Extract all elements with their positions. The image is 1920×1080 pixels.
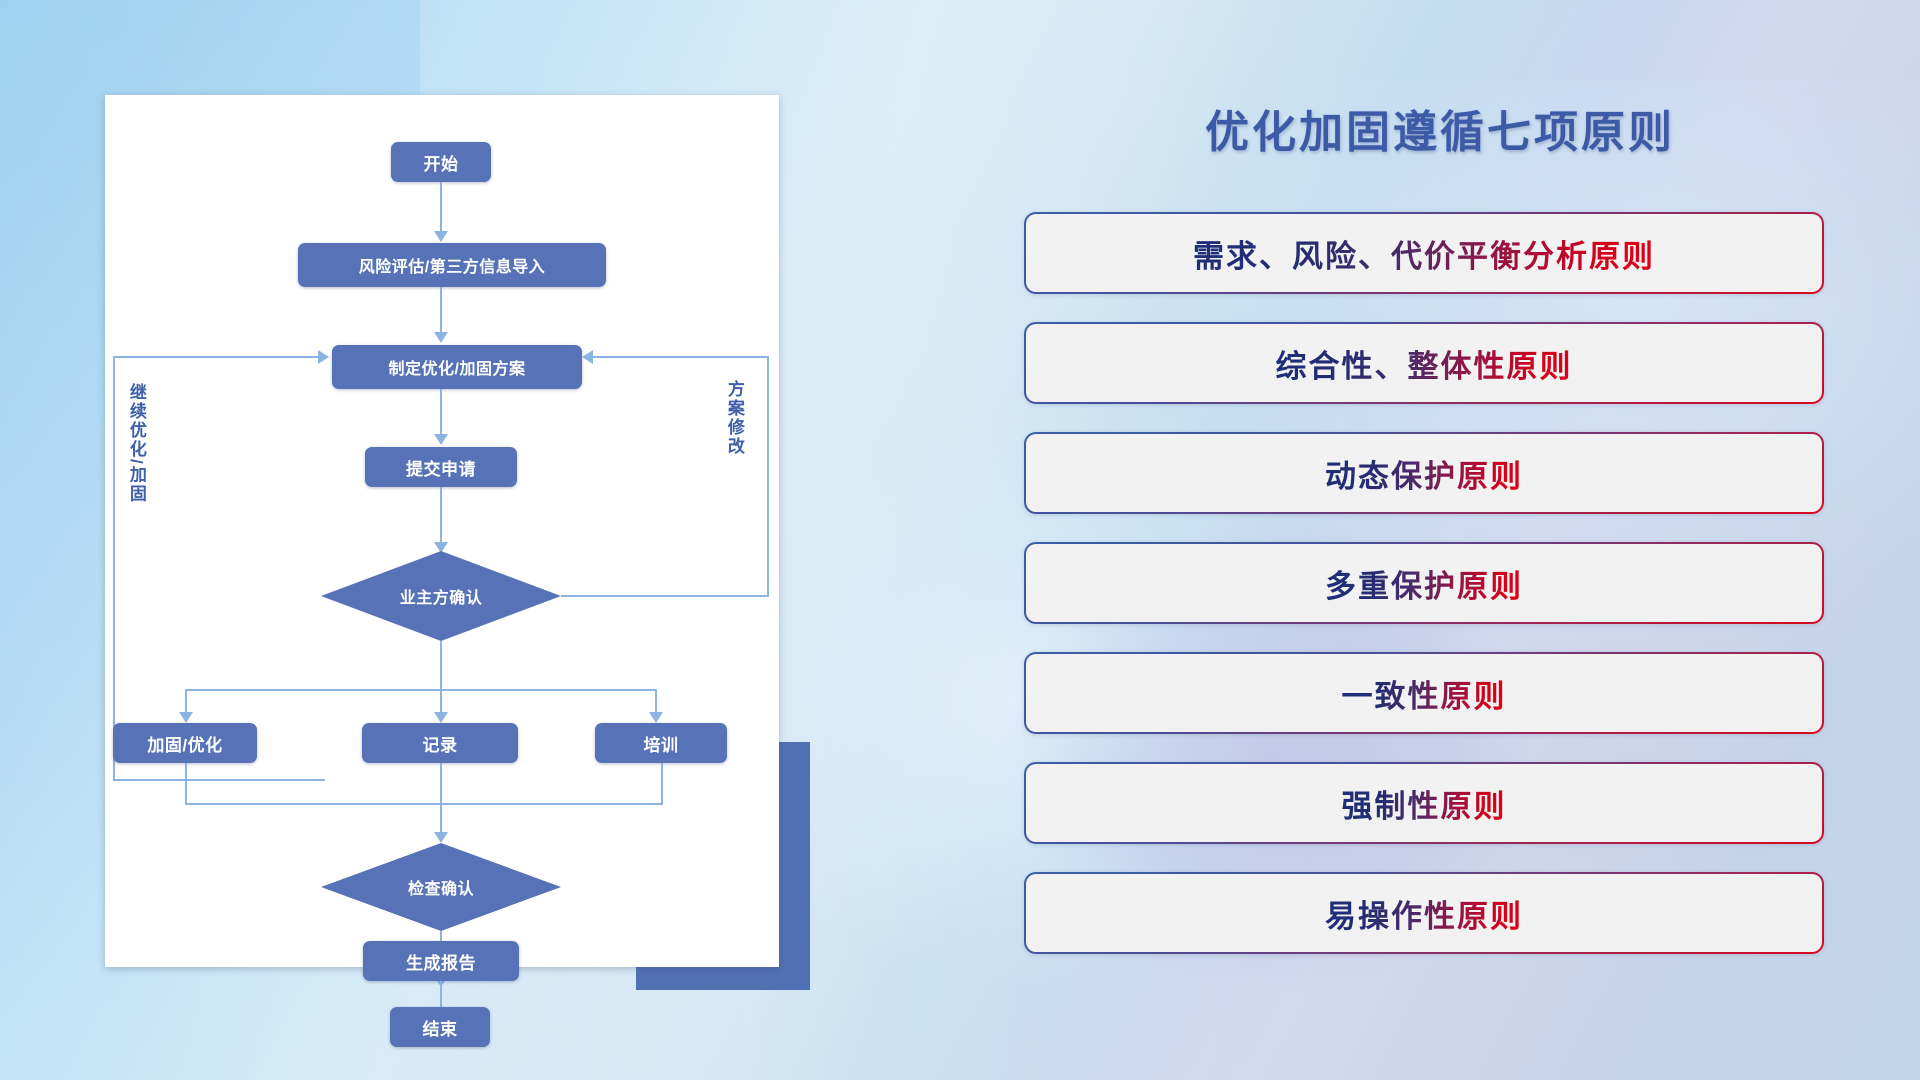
flow-edge-label-plan-revision: 方案修改 [725,380,743,456]
flow-node-training[interactable]: 培训 [595,723,727,763]
flow-node-training-label: 培训 [644,731,679,756]
principle-label: 一致性原则 [1342,671,1507,716]
principle-label: 易操作性原则 [1325,891,1523,936]
diamond-shape [321,551,561,641]
connector-loop-left-bottom [113,779,325,781]
arrowhead-to-training [649,712,663,723]
flow-node-generate-report[interactable]: 生成报告 [363,941,519,981]
arrowhead-to-record [434,712,448,723]
connector-loop-right-bottom [561,595,769,597]
principle-label: 动态保护原则 [1325,451,1523,496]
flow-edge-label-continue-optimize: 继续优化/加固 [127,383,145,504]
principle-item-3[interactable]: 动态保护原则 [1024,432,1824,514]
principle-label: 强制性原则 [1342,781,1507,826]
flow-node-reinforce-label: 加固/优化 [147,731,222,756]
flow-node-submit-application[interactable]: 提交申请 [365,447,517,487]
principle-item-7[interactable]: 易操作性原则 [1024,872,1824,954]
arrowhead-loop-left-to-plan [318,350,329,364]
connector-loop-right-vertical [767,356,769,597]
flowchart-canvas: 开始 风险评估/第三方信息导入 制定优化/加固方案 提交申请 [105,95,779,967]
flowchart-card: 开始 风险评估/第三方信息导入 制定优化/加固方案 提交申请 [105,95,779,967]
connector-record-down [440,763,442,805]
connector-merge-to-check [440,803,442,835]
connector-merge-bar [185,803,663,805]
connector-loop-left-vertical [113,356,115,781]
diamond-shape-check [321,843,561,931]
flow-node-submit-application-label: 提交申请 [406,455,476,480]
connector-fanout-bar [185,689,657,691]
flow-node-end-label: 结束 [423,1015,458,1040]
arrowhead-risk-to-plan [434,332,448,343]
flow-node-make-plan[interactable]: 制定优化/加固方案 [332,345,582,389]
connector-owner-to-fanout [440,641,442,689]
flow-node-record[interactable]: 记录 [362,723,518,763]
connector-reinforce-down [185,763,187,805]
connector-training-down [661,763,663,805]
connector-risk-to-plan [440,287,442,335]
principle-item-1[interactable]: 需求、风险、代价平衡分析原则 [1024,212,1824,294]
connector-loop-right-top [592,356,767,358]
flow-node-make-plan-label: 制定优化/加固方案 [389,355,526,379]
principle-item-4[interactable]: 多重保护原则 [1024,542,1824,624]
flow-node-start[interactable]: 开始 [391,142,491,182]
flow-node-generate-report-label: 生成报告 [406,949,476,974]
flow-node-check-confirm[interactable]: 检查确认 [321,843,561,931]
principles-panel: 优化加固遵循七项原则 需求、风险、代价平衡分析原则 综合性、整体性原则 动态保护… [1020,96,1860,1006]
principles-list: 需求、风险、代价平衡分析原则 综合性、整体性原则 动态保护原则 多重保护原则 一… [1024,212,1824,982]
flow-node-end[interactable]: 结束 [390,1007,490,1047]
flow-node-risk-assessment[interactable]: 风险评估/第三方信息导入 [298,243,606,287]
connector-start-to-risk [440,182,442,234]
flow-node-reinforce[interactable]: 加固/优化 [113,723,257,763]
arrowhead-to-reinforce [179,712,193,723]
flow-node-start-label: 开始 [424,150,459,175]
principle-item-2[interactable]: 综合性、整体性原则 [1024,322,1824,404]
principle-label: 需求、风险、代价平衡分析原则 [1193,231,1655,276]
principle-label: 综合性、整体性原则 [1276,341,1573,386]
connector-plan-to-submit [440,389,442,437]
connector-submit-to-owner [440,487,442,545]
arrowhead-loop-right-to-plan [582,350,593,364]
arrowhead-plan-to-submit [434,434,448,445]
flow-node-risk-assessment-label: 风险评估/第三方信息导入 [359,253,545,277]
arrowhead-start-to-risk [434,231,448,242]
principle-item-6[interactable]: 强制性原则 [1024,762,1824,844]
principle-item-5[interactable]: 一致性原则 [1024,652,1824,734]
flow-node-record-label: 记录 [423,731,458,756]
page-title: 优化加固遵循七项原则 [1020,96,1860,160]
principle-label: 多重保护原则 [1325,561,1523,606]
arrowhead-merge-to-check [434,832,448,843]
connector-loop-left-top [113,356,321,358]
flow-node-owner-confirm[interactable]: 业主方确认 [321,551,561,641]
